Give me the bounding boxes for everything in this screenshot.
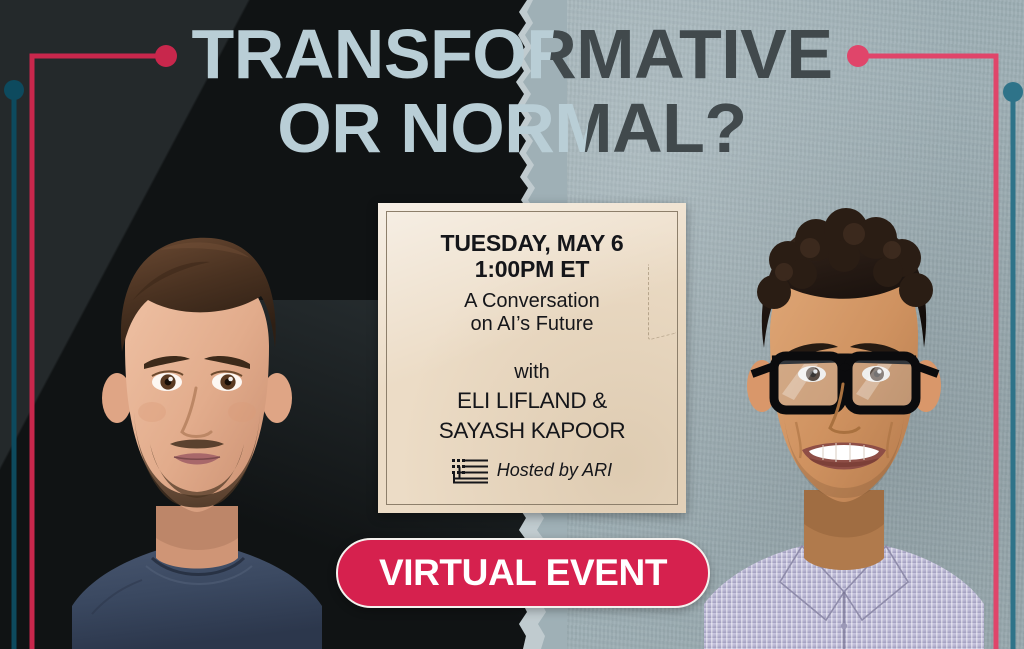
event-time: 1:00PM ET: [475, 257, 590, 283]
glasses-icon: [752, 356, 938, 410]
speaker-line-2: SAYASH KAPOOR: [439, 417, 626, 444]
event-subtitle-line-1: A Conversation: [464, 290, 600, 313]
event-subtitle-line-2: on AI’s Future: [470, 313, 593, 336]
portrait-left-eli-lifland: [30, 176, 360, 649]
hosted-by-label: Hosted by ARI: [497, 460, 612, 481]
portrait-right-sayash-kapoor: [676, 168, 1012, 649]
virtual-event-label: VIRTUAL EVENT: [379, 552, 667, 594]
event-details-card: TUESDAY, MAY 6 1:00PM ET A Conversation …: [378, 203, 686, 513]
hosted-by-row: Hosted by ARI: [452, 458, 612, 484]
virtual-event-badge: VIRTUAL EVENT: [336, 538, 710, 608]
with-label: with: [514, 361, 550, 384]
speaker-line-1: ELI LIFLAND &: [457, 387, 607, 414]
event-poster: TRANSFORMATIVE TRANSFORMATIVE OR NORMAL?…: [0, 0, 1024, 649]
ari-logo-icon: [452, 458, 488, 484]
event-date: TUESDAY, MAY 6: [441, 231, 624, 257]
